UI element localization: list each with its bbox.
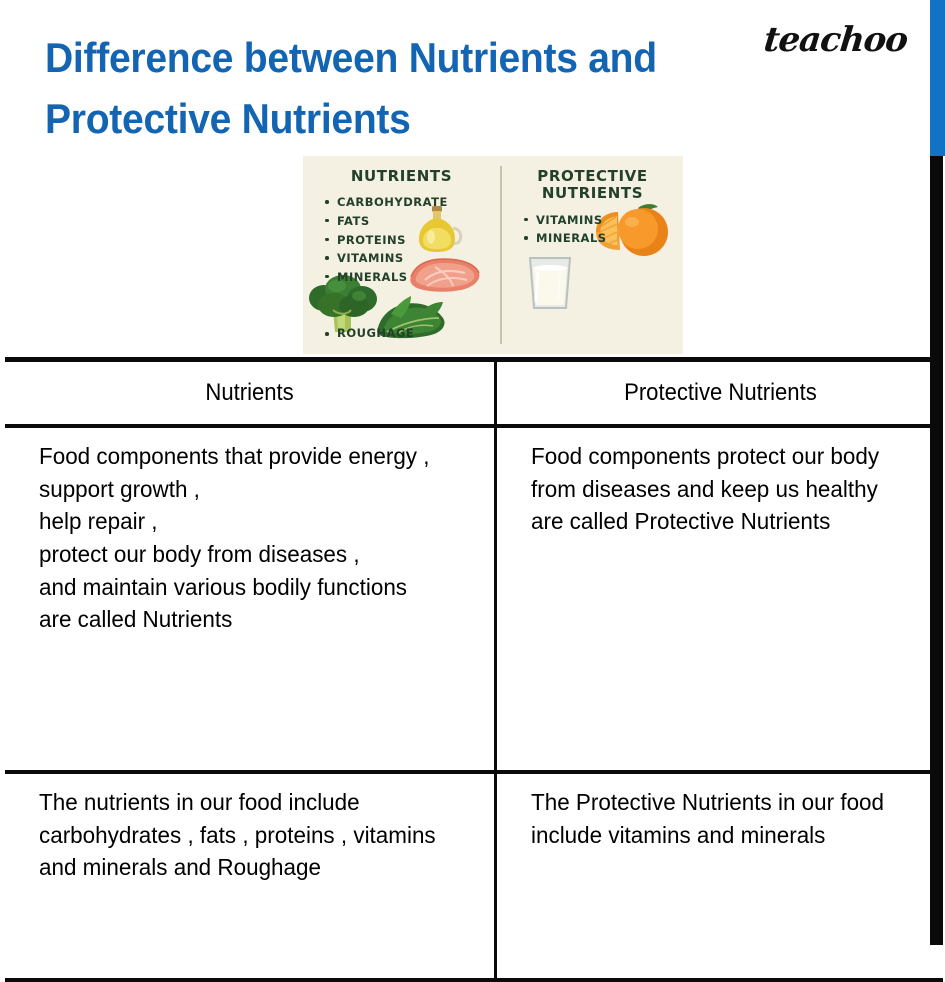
cell-nutrients-examples: The nutrients in our food include carboh… bbox=[5, 772, 496, 980]
list-item: CARBOHYDRATE bbox=[325, 193, 500, 212]
accent-bar-blue bbox=[930, 0, 945, 156]
column-header-protective-nutrients: Protective Nutrients bbox=[513, 360, 925, 427]
cell-text: Food components that provide energy , su… bbox=[39, 440, 458, 636]
infographic-list-protective-nutrients: VITAMINS MINERALS bbox=[502, 211, 683, 248]
table-header-row: Nutrients Protective Nutrients bbox=[5, 360, 943, 427]
cell-text: Food components protect our body from di… bbox=[531, 440, 909, 538]
list-item: VITAMINS bbox=[524, 211, 683, 230]
infographic-heading-nutrients: NUTRIENTS bbox=[303, 168, 500, 185]
list-item: FATS bbox=[325, 212, 500, 231]
infographic-item-roughage: ROUGHAGE bbox=[325, 326, 414, 340]
comparison-table: Nutrients Protective Nutrients Food comp… bbox=[5, 357, 943, 982]
cell-protective-examples: The Protective Nutrients in our food inc… bbox=[496, 772, 944, 980]
cell-text: The Protective Nutrients in our food inc… bbox=[531, 786, 909, 851]
infographic-heading-protective-nutrients: PROTECTIVE NUTRIENTS bbox=[502, 168, 683, 203]
milk-glass-icon bbox=[524, 254, 576, 312]
list-item: MINERALS bbox=[524, 229, 683, 248]
infographic-list-nutrients: CARBOHYDRATE FATS PROTEINS VITAMINS MINE… bbox=[303, 193, 500, 286]
list-item: VITAMINS bbox=[325, 249, 500, 268]
teachoo-logo: teachoo bbox=[762, 20, 909, 60]
page-title: Difference between Nutrients and Protect… bbox=[45, 28, 696, 150]
cell-nutrients-definition: Food components that provide energy , su… bbox=[5, 426, 496, 772]
infographic-column-nutrients: NUTRIENTS CARBOHYDRATE FATS PROTEINS VIT… bbox=[303, 156, 500, 354]
table-row: The nutrients in our food include carboh… bbox=[5, 772, 943, 980]
list-item: PROTEINS bbox=[325, 231, 500, 250]
infographic-column-protective-nutrients: PROTECTIVE NUTRIENTS VITAMINS MINERALS bbox=[502, 156, 683, 354]
table-row: Food components that provide energy , su… bbox=[5, 426, 943, 772]
column-header-nutrients: Nutrients bbox=[25, 360, 476, 427]
nutrients-infographic: NUTRIENTS CARBOHYDRATE FATS PROTEINS VIT… bbox=[303, 156, 683, 354]
cell-protective-definition: Food components protect our body from di… bbox=[496, 426, 944, 772]
list-item: MINERALS bbox=[325, 268, 500, 287]
cell-text: The nutrients in our food include carboh… bbox=[39, 786, 458, 884]
